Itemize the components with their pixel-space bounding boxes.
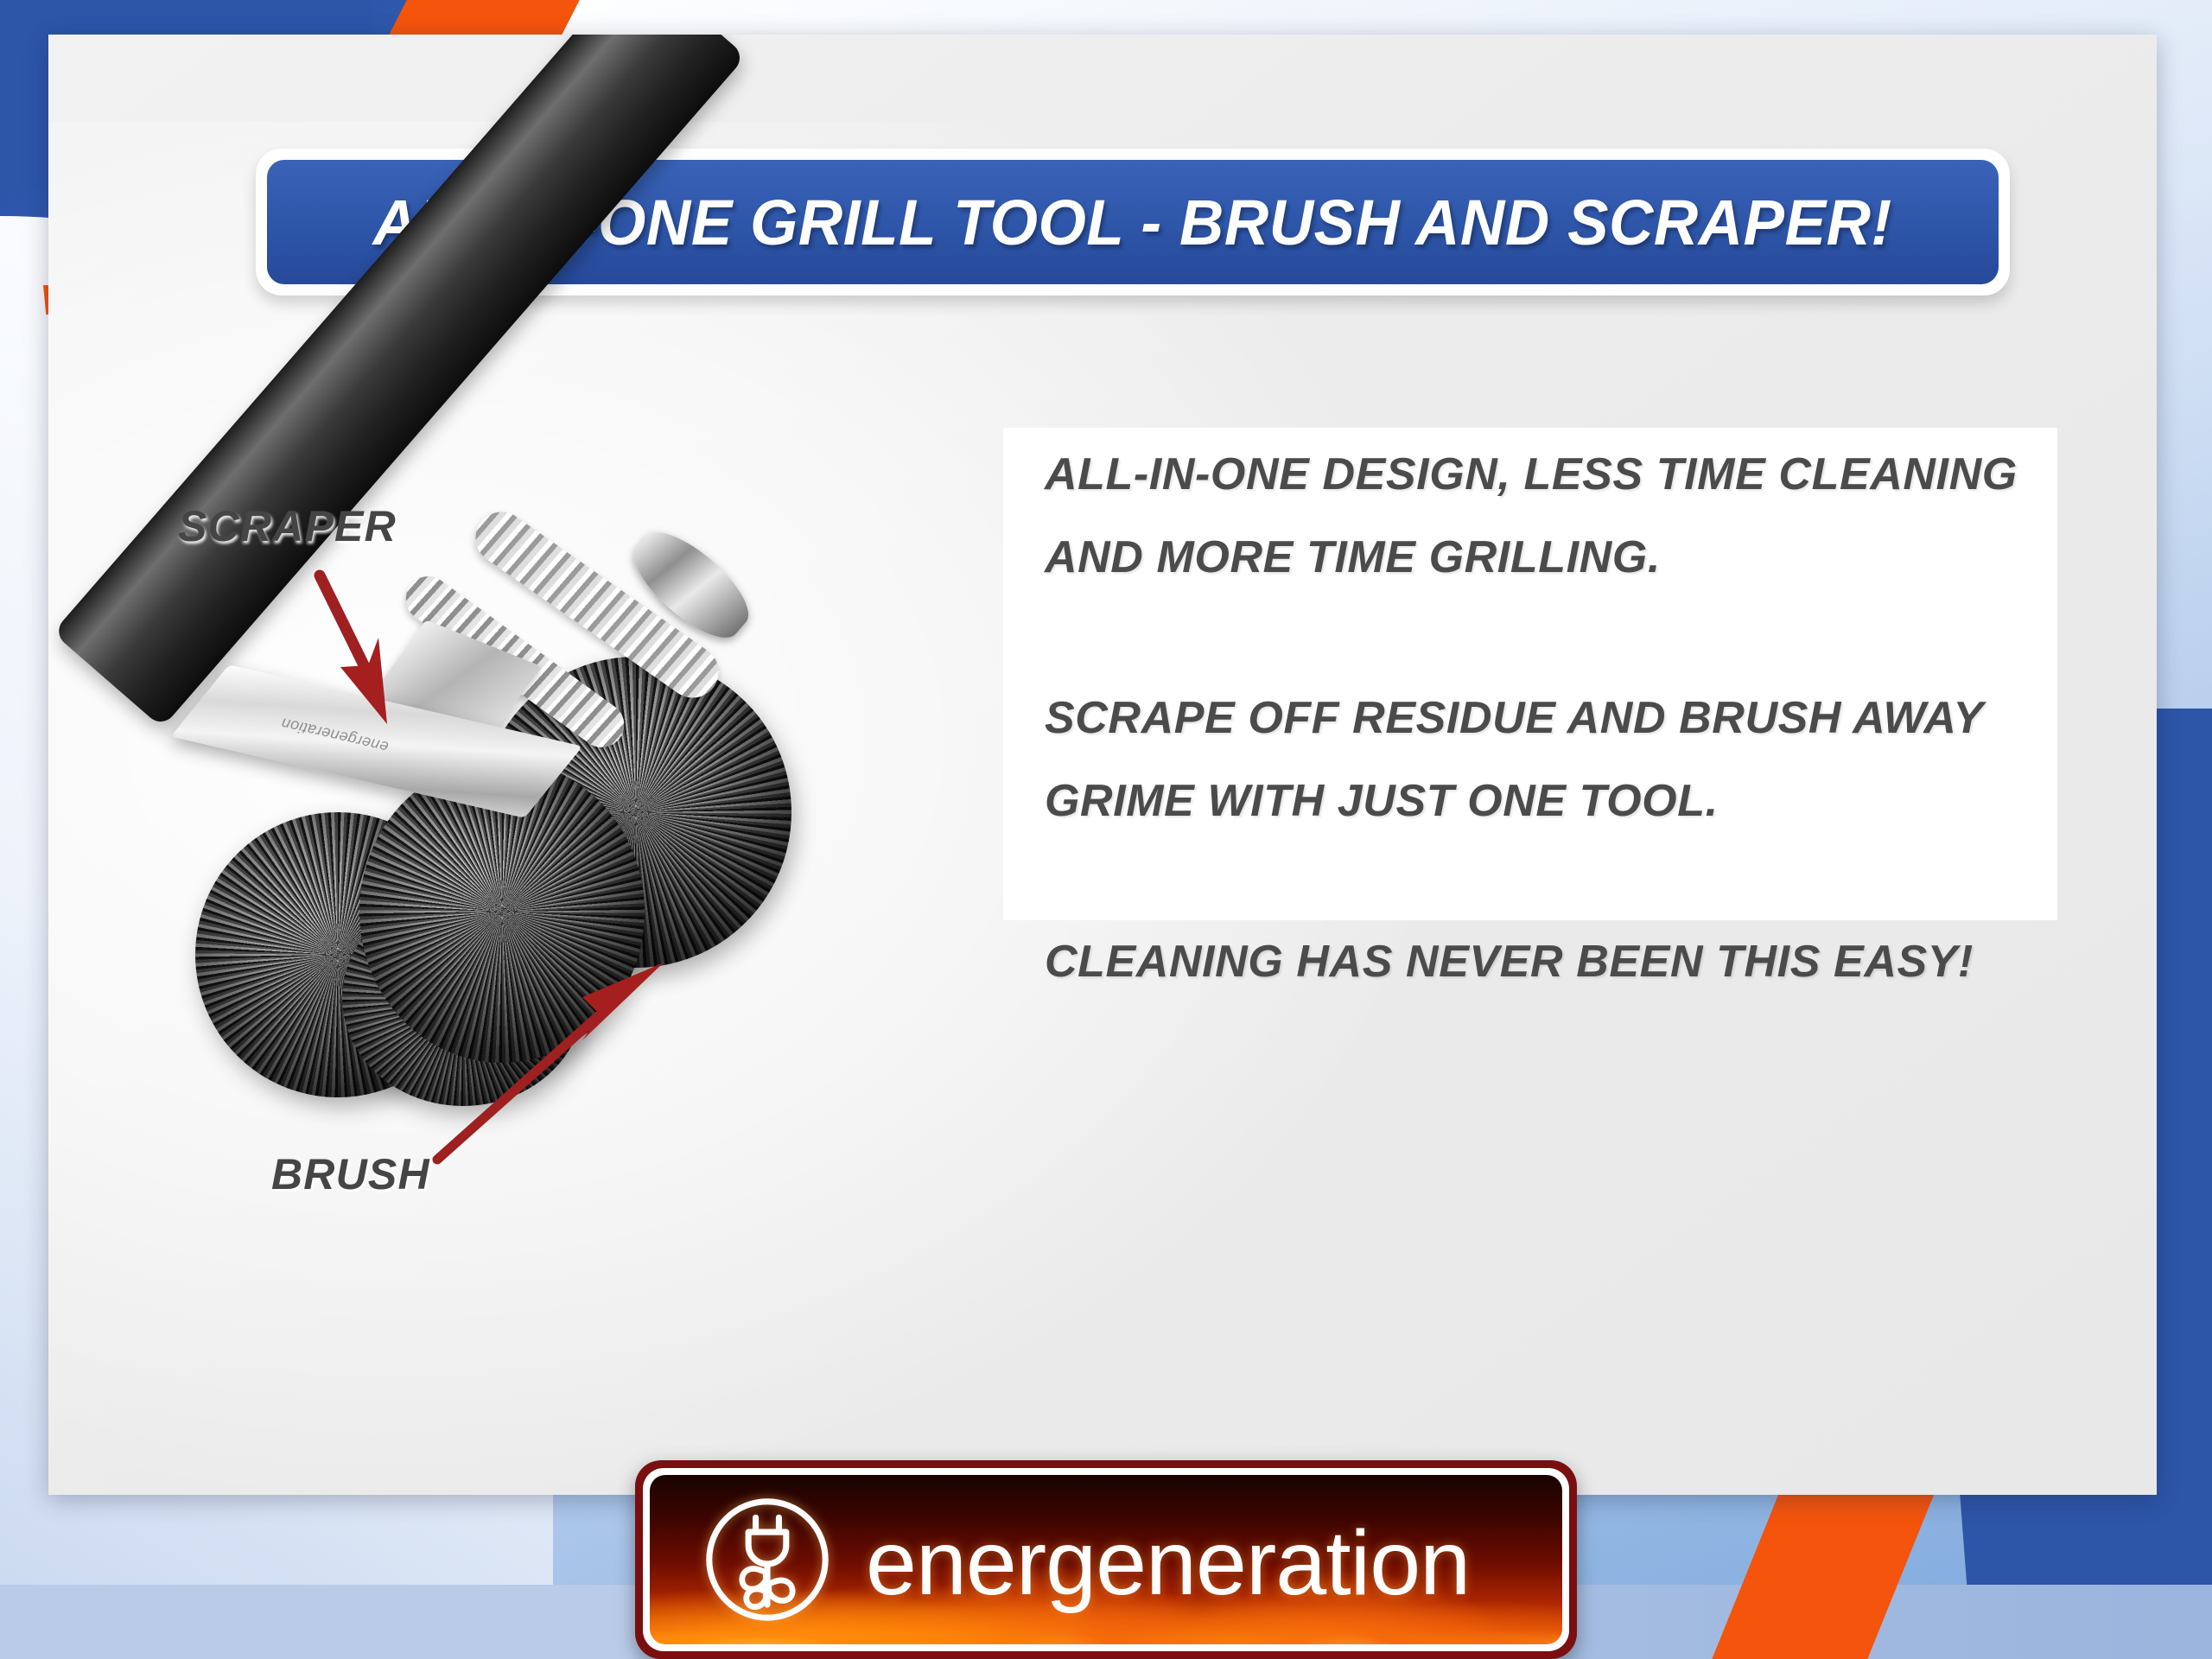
feature-paragraph-3: CLEANING HAS NEVER BEEN THIS EASY! <box>1045 920 2031 1003</box>
logo-fire-background: energeneration <box>650 1475 1562 1644</box>
infographic-card: ALL-IN-ONE GRILL TOOL - BRUSH AND SCRAPE… <box>48 35 2157 1495</box>
arrow-up-right-icon <box>429 959 671 1166</box>
callout-label-scraper: SCRAPER <box>178 501 397 551</box>
arrow-down-right-icon <box>308 570 446 726</box>
feature-paragraph-1: ALL-IN-ONE DESIGN, LESS TIME CLEANING AN… <box>1045 433 2031 599</box>
plug-plant-circle-icon <box>695 1487 840 1632</box>
feature-text-panel: ALL-IN-ONE DESIGN, LESS TIME CLEANING AN… <box>1003 428 2057 920</box>
brand-logo-badge: energeneration <box>635 1460 1577 1659</box>
feature-text-body: ALL-IN-ONE DESIGN, LESS TIME CLEANING AN… <box>1045 433 2031 1003</box>
callout-label-brush: BRUSH <box>271 1149 430 1199</box>
feature-paragraph-2: SCRAPE OFF RESIDUE AND BRUSH AWAY GRIME … <box>1045 677 2031 842</box>
logo-wordmark: energeneration <box>866 1517 1470 1609</box>
logo-white-frame: energeneration <box>643 1468 1569 1651</box>
